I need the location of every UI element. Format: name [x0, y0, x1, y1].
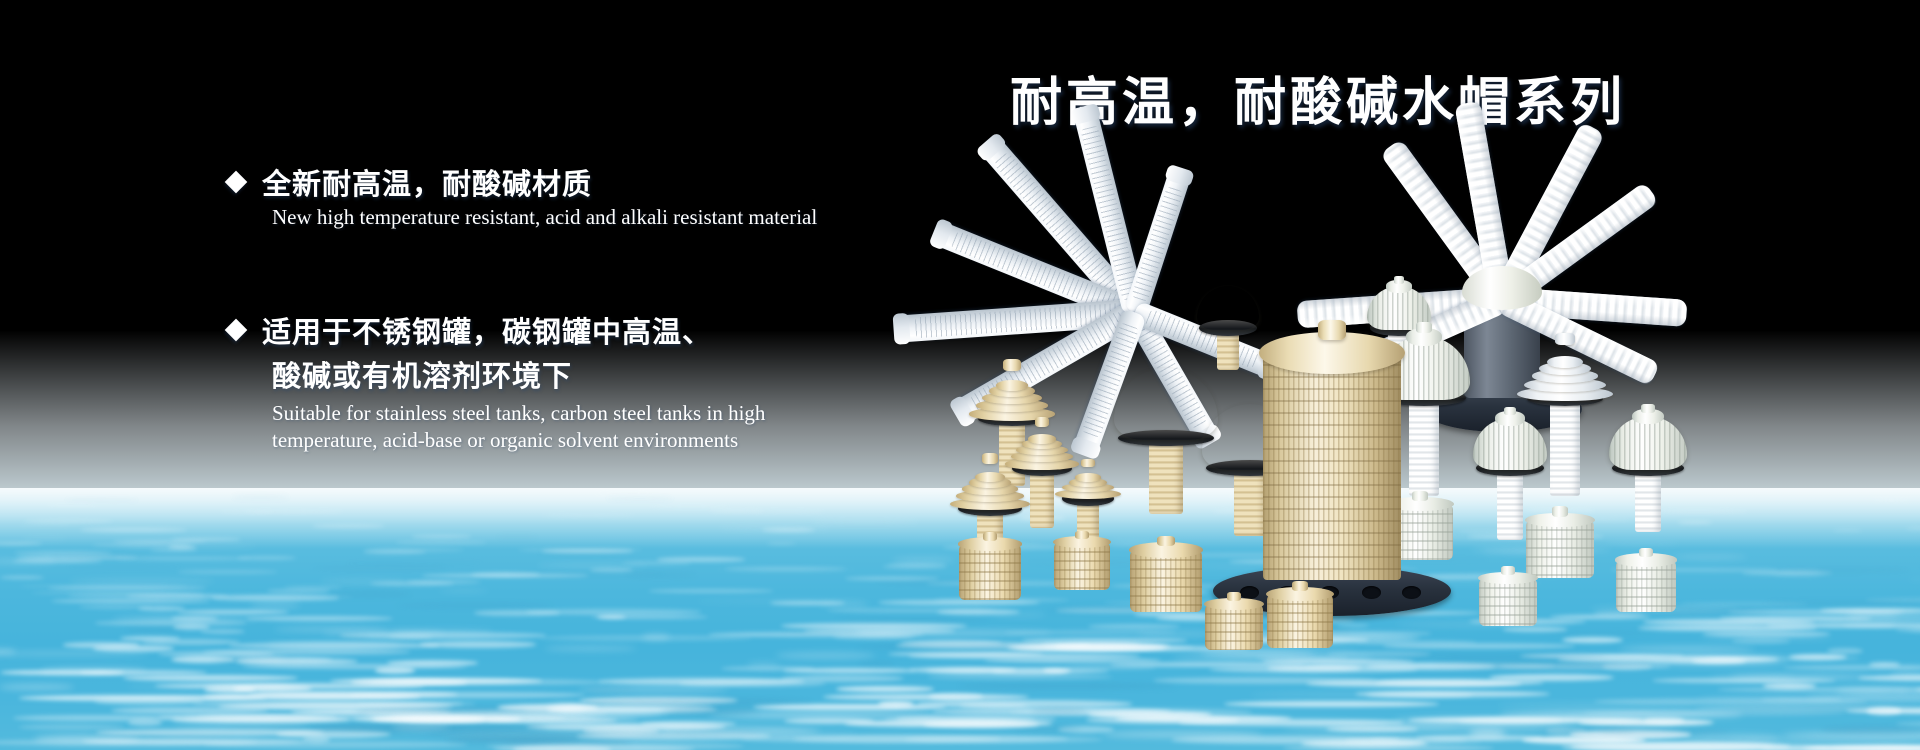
- bell-dome-nipple: [1223, 276, 1234, 283]
- dome-knob: [1555, 333, 1574, 345]
- bullet-2-en-line-2: temperature, acid-base or organic solven…: [272, 427, 765, 454]
- drum-knob: [1157, 536, 1174, 547]
- threaded-stem: [1550, 400, 1580, 496]
- flange-bolt-hole: [1240, 586, 1259, 599]
- page-title: 耐高温，耐酸碱水帽系列: [1010, 60, 1626, 135]
- drum-body: [1526, 520, 1594, 578]
- threaded-stem: [1217, 330, 1239, 370]
- drum-knob: [1501, 566, 1515, 575]
- dome-knob: [1035, 417, 1050, 427]
- drum-knob: [1227, 592, 1241, 601]
- flange-bolt-hole: [1402, 586, 1421, 599]
- bullet-block-2: 适用于不锈钢罐，碳钢罐中高温、 酸碱或有机溶剂环境下 Suitable for …: [228, 310, 765, 454]
- bullet-2-cn-line-2: 酸碱或有机溶剂环境下: [272, 354, 765, 398]
- bullet-1-cn-line-1: 全新耐高温，耐酸碱材质: [262, 162, 592, 206]
- threaded-stem: [1635, 470, 1661, 532]
- drum-body: [1616, 560, 1676, 612]
- bell-dome-nipple: [1416, 322, 1432, 333]
- star-hub-cap: [1462, 266, 1542, 310]
- dome-knob: [1003, 359, 1020, 370]
- drum-body: [1479, 578, 1537, 626]
- flange-bolt-hole: [1362, 586, 1381, 599]
- dome-tier: [996, 380, 1029, 391]
- dome-knob: [982, 453, 998, 463]
- bullet-block-1: 全新耐高温，耐酸碱材质 New high temperature resista…: [228, 162, 817, 231]
- drum-body: [1205, 604, 1263, 650]
- bullet-2-cn-line-1: 适用于不锈钢罐，碳钢罐中高温、: [262, 310, 712, 354]
- dome-tier: [1028, 434, 1056, 443]
- bell-dome-nipple: [1242, 390, 1258, 401]
- drum-knob: [1552, 506, 1568, 516]
- dome-knob: [1081, 459, 1094, 468]
- bell-dome-nipple: [1394, 276, 1405, 283]
- dome-tier: [1075, 473, 1100, 481]
- filter-cylinder-body: [1263, 352, 1401, 580]
- threaded-stem: [1234, 470, 1266, 536]
- drum-knob: [1292, 581, 1308, 591]
- bell-dome-nipple: [1157, 352, 1175, 364]
- bullet-2-en-line-1: Suitable for stainless steel tanks, carb…: [272, 400, 765, 427]
- bell-dome-nipple: [1504, 407, 1517, 416]
- drum-knob: [1639, 548, 1653, 557]
- drum-body: [1130, 550, 1202, 612]
- threaded-stem: [1030, 470, 1054, 528]
- bell-dome-body: [1609, 416, 1687, 470]
- drum-knob: [983, 532, 998, 541]
- threaded-stem: [1409, 400, 1439, 496]
- drum-body: [1054, 542, 1110, 590]
- drum-knob: [1412, 491, 1428, 501]
- drum-body: [1267, 594, 1333, 648]
- filter-cylinder-knob: [1318, 320, 1346, 340]
- diamond-bullet-icon: [225, 171, 248, 194]
- diamond-bullet-icon: [225, 319, 248, 342]
- drum-body: [959, 544, 1021, 600]
- dome-tier: [1547, 356, 1583, 368]
- bullet-1-en-line-1: New high temperature resistant, acid and…: [272, 204, 817, 231]
- bell-dome-nipple: [1641, 404, 1654, 413]
- product-banner: 耐高温，耐酸碱水帽系列 全新耐高温，耐酸碱材质 New high tempera…: [0, 0, 1920, 750]
- star-hub: [1099, 272, 1171, 358]
- threaded-stem: [1497, 470, 1523, 540]
- drum-knob: [1075, 531, 1088, 539]
- threaded-stem: [1149, 440, 1183, 514]
